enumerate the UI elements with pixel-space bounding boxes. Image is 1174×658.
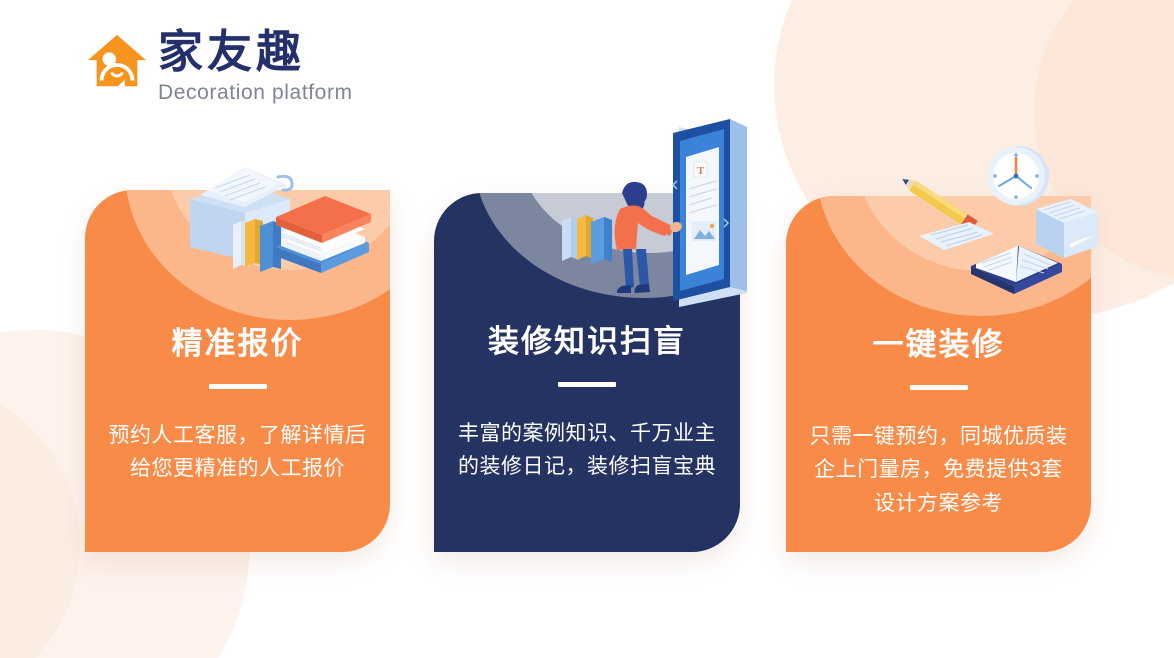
bottom-left-blob-inner [0, 380, 80, 658]
card-divider [910, 385, 968, 390]
house-with-person-icon [86, 32, 148, 94]
card-arc-decoration [474, 193, 740, 298]
card-description: 预约人工客服，了解详情后给您更精准的人工报价 [106, 419, 370, 485]
slide-canvas: 家友趣 Decoration platform [0, 0, 1174, 658]
card-arc-decoration [816, 196, 1091, 316]
card-arc-decoration-inner [519, 193, 740, 253]
card-arc-decoration [125, 190, 390, 320]
card-divider [558, 382, 616, 387]
card-description: 丰富的案例知识、千万业主的装修日记，装修扫盲宝典 [455, 417, 719, 483]
card-title: 装修知识扫盲 [434, 323, 740, 360]
svg-text:T: T [697, 165, 705, 177]
brand-title: 家友趣 [158, 28, 353, 75]
card-description: 只需一键预约，同城优质装企上门量房，免费提供3套设计方案参考 [807, 420, 1071, 520]
feature-card-knowledge[interactable]: T [434, 193, 740, 552]
card-text-block: 装修知识扫盲 丰富的案例知识、千万业主的装修日记，装修扫盲宝典 [434, 323, 740, 484]
feature-card-precise-quote[interactable]: 精准报价 预约人工客服，了解详情后给您更精准的人工报价 [85, 190, 390, 552]
brand-subtitle: Decoration platform [158, 81, 353, 105]
card-arc-decoration-inner [856, 196, 1091, 271]
card-arc-decoration-inner [165, 190, 390, 270]
card-text-block: 一键装修 只需一键预约，同城优质装企上门量房，免费提供3套设计方案参考 [786, 326, 1091, 520]
brand-text: 家友趣 Decoration platform [158, 28, 353, 105]
card-divider [209, 384, 267, 389]
card-text-block: 精准报价 预约人工客服，了解详情后给您更精准的人工报价 [85, 325, 390, 486]
card-title: 精准报价 [85, 325, 390, 362]
card-title: 一键装修 [786, 326, 1091, 363]
brand-logo: 家友趣 Decoration platform [86, 28, 353, 105]
feature-card-one-click[interactable]: 一键装修 只需一键预约，同城优质装企上门量房，免费提供3套设计方案参考 [786, 196, 1091, 552]
